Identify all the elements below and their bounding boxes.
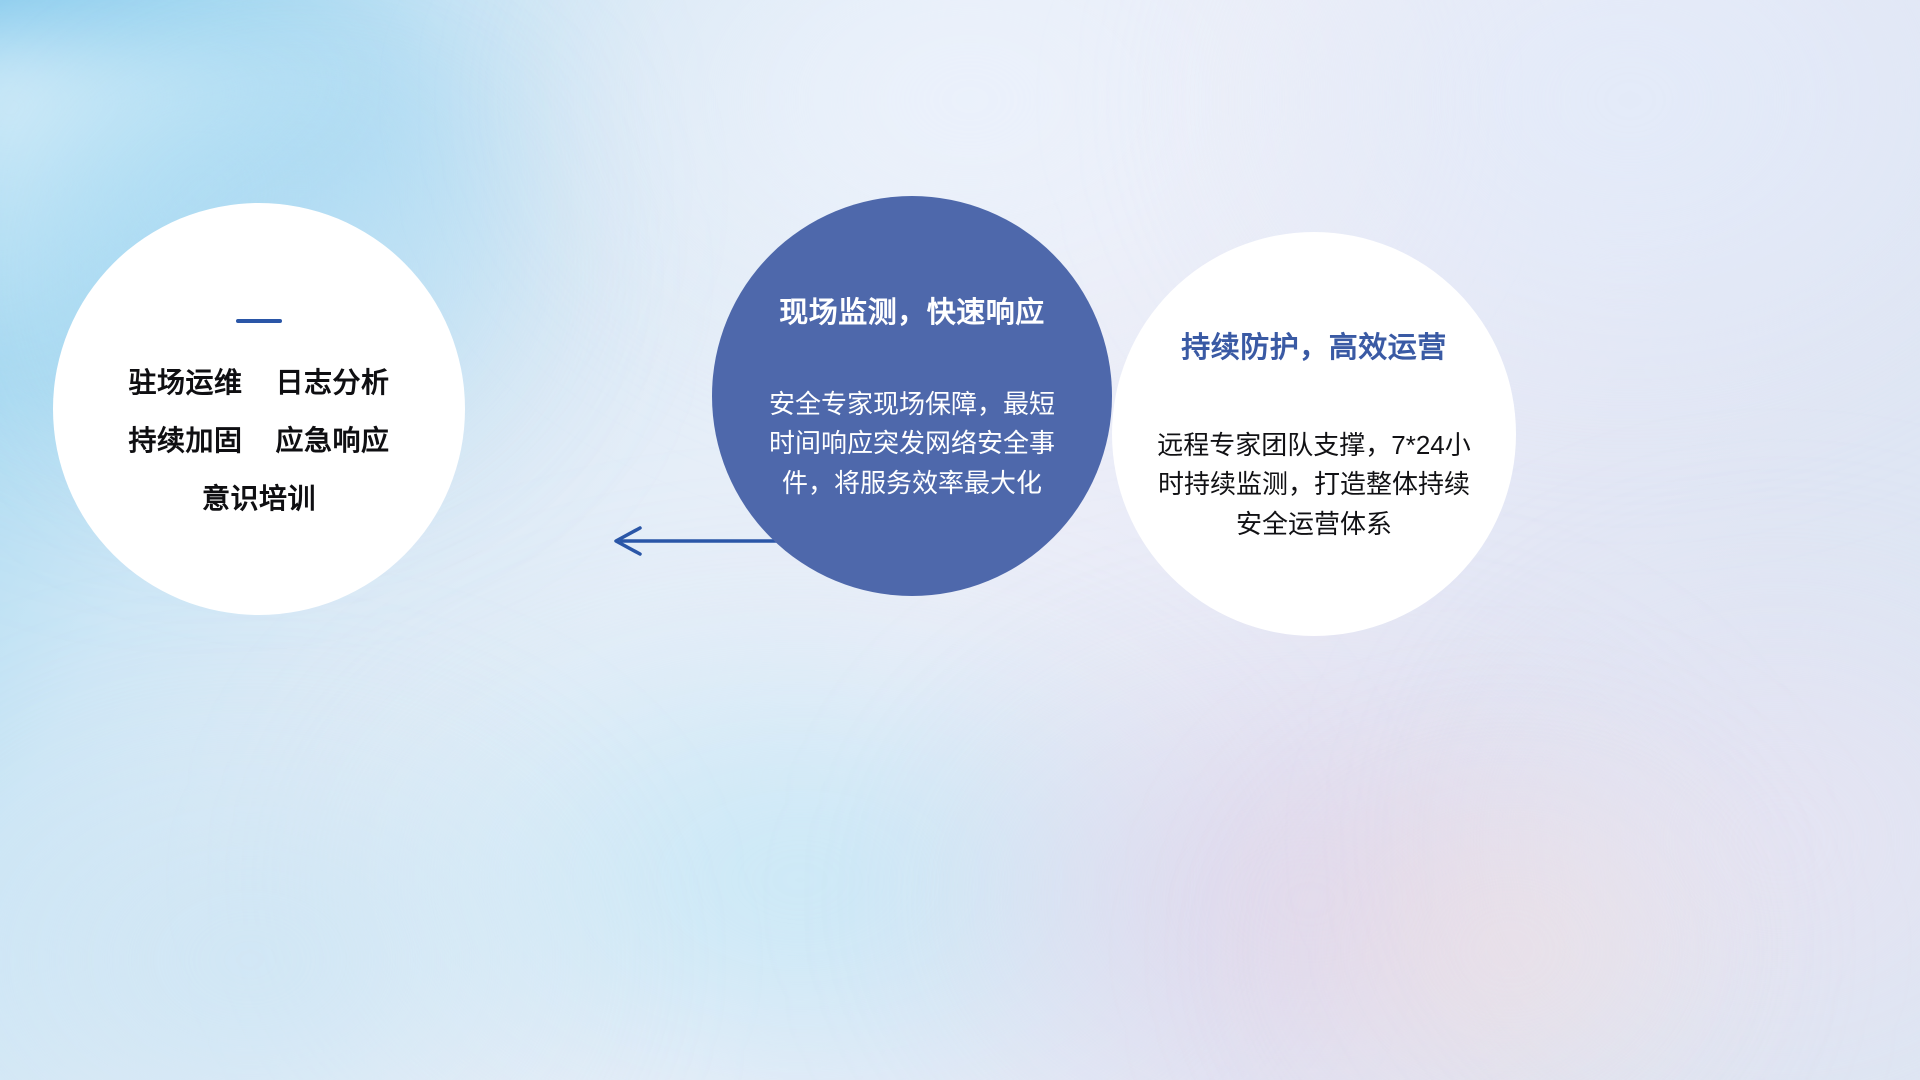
capability-circle[interactable]: 驻场运维 日志分析 持续加固 应急响应 意识培训 xyxy=(53,203,465,615)
continuous-protection-body: 远程专家团队支撑，7*24小时持续监测，打造整体持续安全运营体系 xyxy=(1146,426,1482,545)
onsite-monitoring-content: 现场监测，快速响应 安全专家现场保障，最短时间响应突发网络安全事件，将服务效率最… xyxy=(733,289,1091,504)
slide-canvas: 驻场运维 日志分析 持续加固 应急响应 意识培训 现场监测，快速响应 安全专家现… xyxy=(0,0,1920,1080)
divider-dash-icon xyxy=(236,319,282,323)
capability-line-1: 驻场运维 日志分析 xyxy=(128,369,389,397)
capability-line-3: 意识培训 xyxy=(128,485,389,513)
continuous-protection-circle[interactable]: 持续防护，高效运营 远程专家团队支撑，7*24小时持续监测，打造整体持续安全运营… xyxy=(1112,232,1516,636)
continuous-protection-content: 持续防护，高效运营 远程专家团队支撑，7*24小时持续监测，打造整体持续安全运营… xyxy=(1120,324,1508,545)
continuous-protection-title: 持续防护，高效运营 xyxy=(1146,324,1482,366)
capability-line-2: 持续加固 应急响应 xyxy=(128,427,389,455)
onsite-monitoring-circle[interactable]: 现场监测，快速响应 安全专家现场保障，最短时间响应突发网络安全事件，将服务效率最… xyxy=(712,196,1112,596)
capability-content: 驻场运维 日志分析 持续加固 应急响应 意识培训 xyxy=(94,319,423,513)
onsite-monitoring-title: 现场监测，快速响应 xyxy=(769,289,1055,331)
onsite-monitoring-body: 安全专家现场保障，最短时间响应突发网络安全事件，将服务效率最大化 xyxy=(769,385,1055,504)
